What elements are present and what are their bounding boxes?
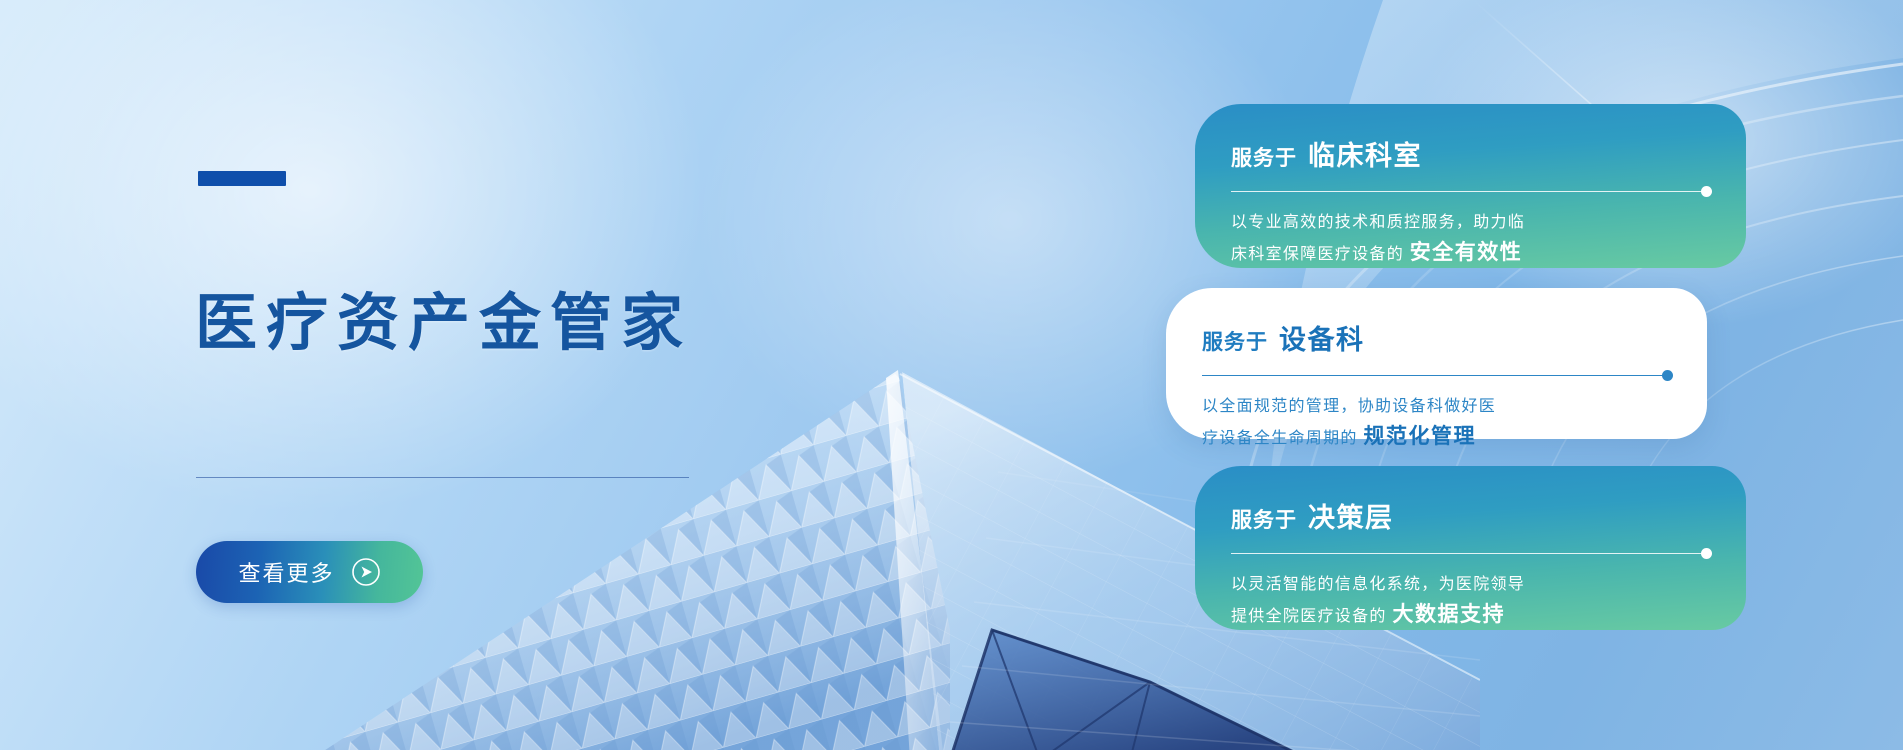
card-heading-prefix: 服务于 [1231, 142, 1297, 172]
card-rule [1231, 549, 1710, 559]
card-body-highlight: 大数据支持 [1392, 603, 1505, 626]
card-heading: 服务于 临床科室 [1231, 134, 1710, 173]
card-body-line-2-normal: 床科室保障医疗设备的 [1231, 246, 1404, 263]
card-body: 以灵活智能的信息化系统，为医院领导 提供全院医疗设备的 大数据支持 [1231, 572, 1710, 632]
card-body-line-2-normal: 提供全院医疗设备的 [1231, 608, 1387, 625]
card-rule-dot [1701, 186, 1712, 197]
card-body-line-2: 提供全院医疗设备的 大数据支持 [1231, 598, 1710, 632]
card-heading-main: 设备科 [1279, 318, 1365, 357]
card-body-line-2: 疗设备全生命周期的 规范化管理 [1202, 420, 1671, 454]
card-heading: 服务于 决策层 [1231, 496, 1710, 535]
hero-banner: 医疗资产金管家 查看更多 服务于 临床科室 以专业高效的技术和质控服务，助力临 … [0, 0, 1903, 750]
card-body-highlight: 安全有效性 [1410, 241, 1523, 264]
service-card-clinical-department[interactable]: 服务于 临床科室 以专业高效的技术和质控服务，助力临 床科室保障医疗设备的 安全… [1195, 104, 1746, 268]
card-body: 以专业高效的技术和质控服务，助力临 床科室保障医疗设备的 安全有效性 [1231, 210, 1710, 270]
card-rule-dot [1701, 548, 1712, 559]
card-body-line-2: 床科室保障医疗设备的 安全有效性 [1231, 236, 1710, 270]
service-card-decision-layer[interactable]: 服务于 决策层 以灵活智能的信息化系统，为医院领导 提供全院医疗设备的 大数据支… [1195, 466, 1746, 630]
card-body: 以全面规范的管理，协助设备科做好医 疗设备全生命周期的 规范化管理 [1202, 394, 1671, 454]
card-rule-line [1202, 375, 1671, 376]
card-body-line-2-normal: 疗设备全生命周期的 [1202, 430, 1358, 447]
card-heading-prefix: 服务于 [1231, 504, 1297, 534]
card-heading-main: 决策层 [1308, 496, 1394, 535]
card-rule-line [1231, 191, 1710, 192]
card-body-line-1: 以灵活智能的信息化系统，为医院领导 [1231, 572, 1710, 598]
card-heading: 服务于 设备科 [1202, 318, 1671, 357]
card-heading-prefix: 服务于 [1202, 326, 1268, 356]
service-card-equipment-department[interactable]: 服务于 设备科 以全面规范的管理，协助设备科做好医 疗设备全生命周期的 规范化管… [1166, 288, 1707, 439]
service-card-list: 服务于 临床科室 以专业高效的技术和质控服务，助力临 床科室保障医疗设备的 安全… [0, 0, 1903, 750]
card-rule-line [1231, 553, 1710, 554]
card-body-highlight: 规范化管理 [1363, 425, 1476, 448]
card-rule [1202, 371, 1671, 381]
card-body-line-1: 以全面规范的管理，协助设备科做好医 [1202, 394, 1671, 420]
card-body-line-1: 以专业高效的技术和质控服务，助力临 [1231, 210, 1710, 236]
card-rule [1231, 187, 1710, 197]
card-heading-main: 临床科室 [1308, 134, 1422, 173]
card-rule-dot [1662, 370, 1673, 381]
